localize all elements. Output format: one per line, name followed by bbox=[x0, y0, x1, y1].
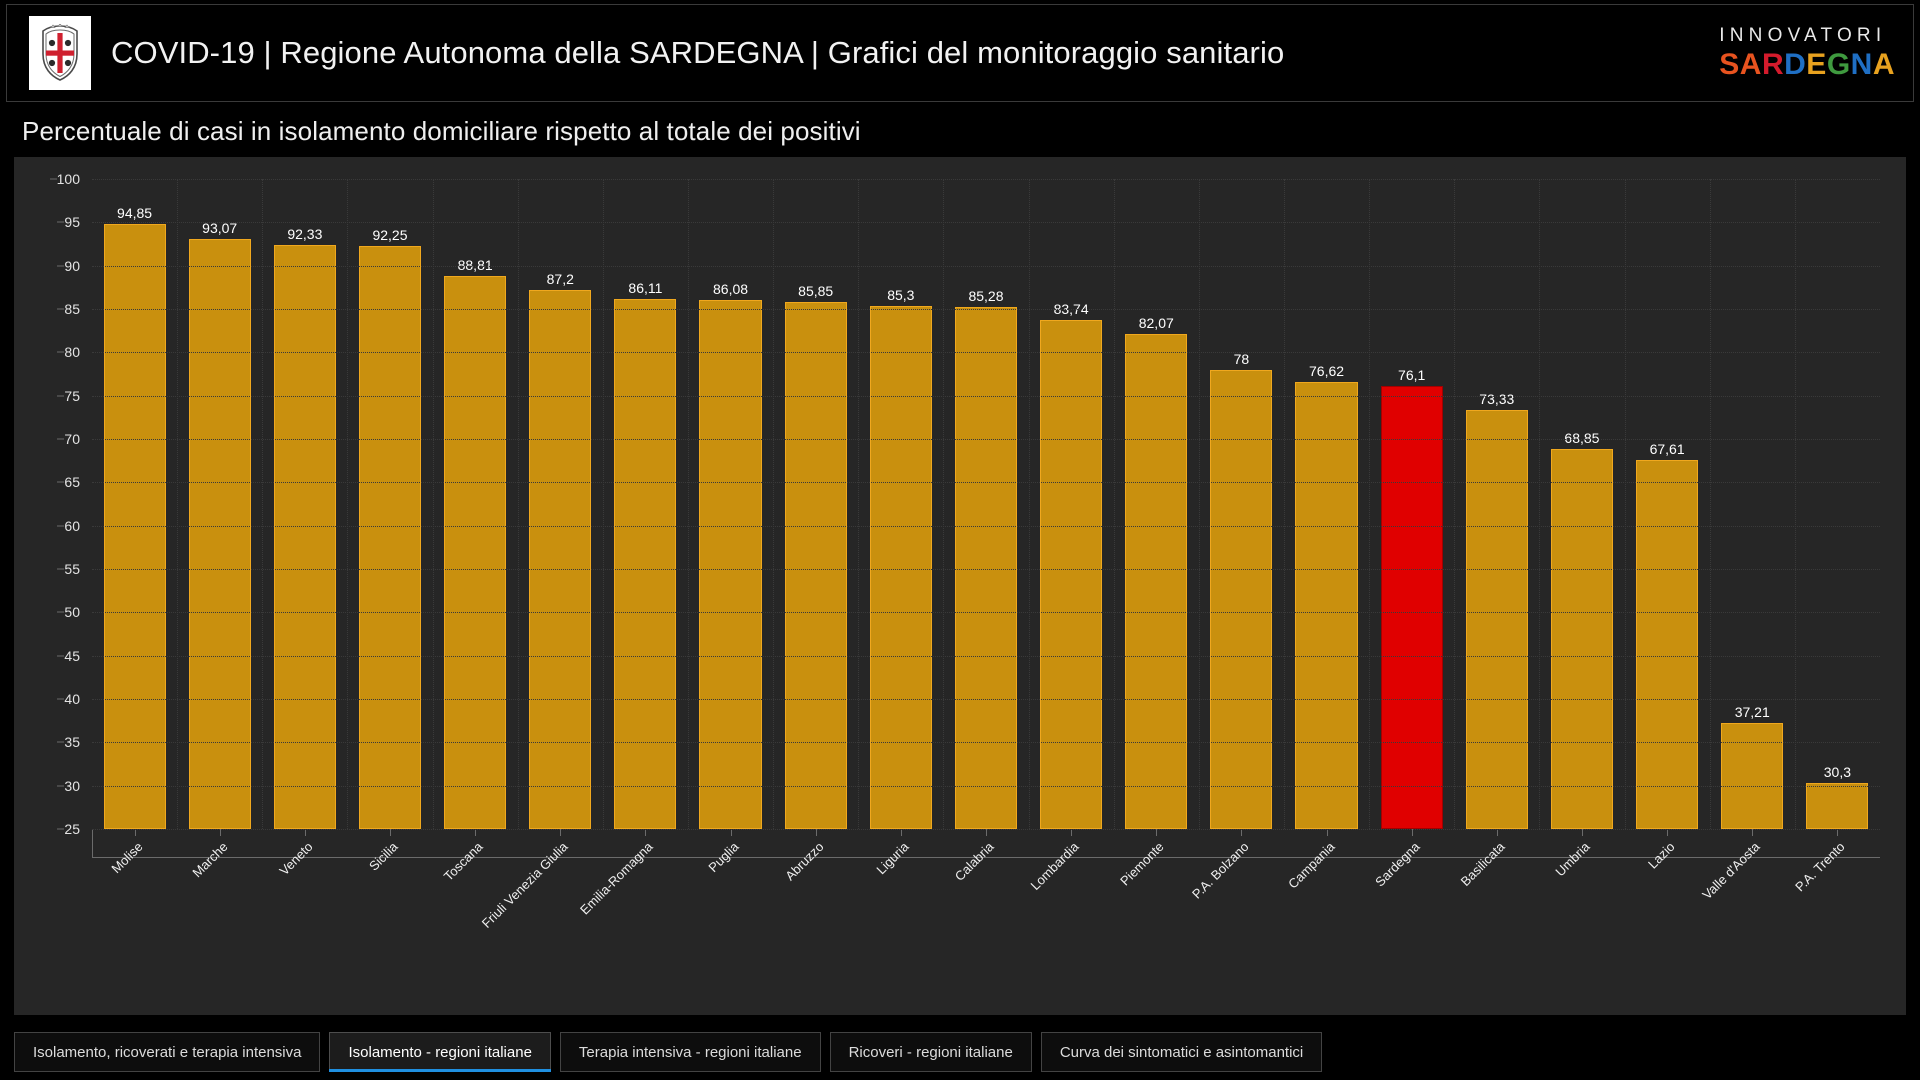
bar-value-label: 68,85 bbox=[1564, 430, 1599, 446]
y-axis-tick-mark bbox=[57, 829, 64, 830]
brand-letter-4: E bbox=[1806, 50, 1827, 80]
gridline-horizontal bbox=[92, 482, 1880, 483]
y-axis-tick-mark bbox=[57, 309, 64, 310]
x-axis-tick-label: Piemonte bbox=[1117, 839, 1166, 888]
bar-slot[interactable]: 87,2Friuli Venezia Giulia bbox=[518, 179, 603, 829]
bar-value-label: 85,85 bbox=[798, 283, 833, 299]
y-axis-tick-label: 100 bbox=[57, 171, 92, 187]
bar-value-label: 37,21 bbox=[1735, 704, 1770, 720]
x-axis-tick-mark bbox=[1497, 829, 1498, 836]
y-axis-tick-mark bbox=[57, 569, 64, 570]
y-axis-tick-mark bbox=[57, 699, 64, 700]
x-axis-tick-mark bbox=[305, 829, 306, 836]
x-axis-tick-label: Calabria bbox=[952, 839, 997, 884]
y-axis-tick-mark bbox=[57, 352, 64, 353]
x-axis-tick-label: Liguria bbox=[873, 839, 911, 877]
bar-toscana[interactable]: 88,81 bbox=[444, 276, 506, 829]
bar-basilicata[interactable]: 73,33 bbox=[1466, 410, 1528, 829]
bar-slot[interactable]: 94,85Molise bbox=[92, 179, 177, 829]
x-axis-tick-mark bbox=[1071, 829, 1072, 836]
app-header: COVID-19 | Regione Autonoma della SARDEG… bbox=[6, 4, 1914, 102]
y-axis-tick-mark bbox=[57, 525, 64, 526]
dashboard-page: COVID-19 | Regione Autonoma della SARDEG… bbox=[0, 0, 1920, 1080]
x-axis-tick-label: Lazio bbox=[1645, 839, 1678, 872]
bar-emilia-romagna[interactable]: 86,11 bbox=[614, 299, 676, 829]
x-axis-tick-mark bbox=[1241, 829, 1242, 836]
x-axis-tick-mark bbox=[390, 829, 391, 836]
x-axis-tick-label: P.A. Trento bbox=[1793, 839, 1848, 894]
y-axis-tick-mark bbox=[57, 439, 64, 440]
bar-value-label: 85,28 bbox=[968, 288, 1003, 304]
x-axis-tick-mark bbox=[1667, 829, 1668, 836]
y-axis-tick-label: 75 bbox=[64, 388, 92, 404]
tab-isolamento-regioni-italiane[interactable]: Isolamento - regioni italiane bbox=[329, 1032, 550, 1072]
bar-value-label: 73,33 bbox=[1479, 391, 1514, 407]
bar-value-label: 85,3 bbox=[887, 287, 914, 303]
bar-slot[interactable]: 85,85Abruzzo bbox=[773, 179, 858, 829]
y-axis-tick-mark bbox=[57, 742, 64, 743]
x-axis-tick-label: Veneto bbox=[276, 839, 315, 878]
bar-value-label: 92,25 bbox=[372, 227, 407, 243]
tab-isolamento-ricoverati-e-terapia-intensiva[interactable]: Isolamento, ricoverati e terapia intensi… bbox=[14, 1032, 320, 1072]
y-axis-tick-label: 30 bbox=[64, 778, 92, 794]
bar-marche[interactable]: 93,07 bbox=[189, 239, 251, 829]
x-axis-tick-mark bbox=[1582, 829, 1583, 836]
brand-letter-3: D bbox=[1784, 50, 1806, 80]
bar-abruzzo[interactable]: 85,85 bbox=[785, 302, 847, 829]
bar-slot[interactable]: 85,28Calabria bbox=[943, 179, 1028, 829]
tab-curva-dei-sintomatici-e-asintomantici[interactable]: Curva dei sintomatici e asintomantici bbox=[1041, 1032, 1322, 1072]
gridline-horizontal bbox=[92, 829, 1880, 830]
bar-slot[interactable]: 86,11Emilia-Romagna bbox=[603, 179, 688, 829]
bar-slot[interactable]: 78P.A. Bolzano bbox=[1199, 179, 1284, 829]
x-axis-tick-label: Marche bbox=[189, 839, 230, 880]
bar-p-a-trento[interactable]: 30,3 bbox=[1806, 783, 1868, 829]
bar-value-label: 76,1 bbox=[1398, 367, 1425, 383]
x-axis-tick-mark bbox=[1327, 829, 1328, 836]
x-axis-tick-mark bbox=[1412, 829, 1413, 836]
x-axis-tick-label: Sardegna bbox=[1372, 839, 1422, 889]
x-axis-tick-mark bbox=[475, 829, 476, 836]
gridline-horizontal bbox=[92, 179, 1880, 180]
bar-campania[interactable]: 76,62 bbox=[1295, 382, 1357, 829]
y-axis-tick-label: 65 bbox=[64, 474, 92, 490]
y-axis-tick-label: 45 bbox=[64, 648, 92, 664]
bar-slot[interactable]: 68,85Umbria bbox=[1539, 179, 1624, 829]
y-axis-tick-mark bbox=[57, 482, 64, 483]
bar-series: 94,85Molise93,07Marche92,33Veneto92,25Si… bbox=[92, 179, 1880, 829]
x-axis-tick-mark bbox=[560, 829, 561, 836]
x-axis-tick-label: Friuli Venezia Giulia bbox=[479, 839, 571, 931]
bar-valle-d-aosta[interactable]: 37,21 bbox=[1721, 723, 1783, 829]
y-axis-tick-mark bbox=[57, 655, 64, 656]
chart-subtitle: Percentuale di casi in isolamento domici… bbox=[6, 102, 1914, 157]
bar-slot[interactable]: 85,3Liguria bbox=[858, 179, 943, 829]
y-axis-tick-label: 40 bbox=[64, 691, 92, 707]
x-axis-tick-mark bbox=[1837, 829, 1838, 836]
innovatori-sardegna-logo: INNOVATORI SARDEGNA bbox=[1719, 26, 1895, 80]
page-title: COVID-19 | Regione Autonoma della SARDEG… bbox=[111, 35, 1284, 71]
brand-top-text: INNOVATORI bbox=[1719, 26, 1895, 45]
brand-letter-1: A bbox=[1740, 50, 1762, 80]
x-axis-tick-mark bbox=[986, 829, 987, 836]
tab-terapia-intensiva-regioni-italiane[interactable]: Terapia intensiva - regioni italiane bbox=[560, 1032, 821, 1072]
y-axis-tick-label: 25 bbox=[64, 821, 92, 837]
x-axis-tick-label: Valle d'Aosta bbox=[1700, 839, 1763, 902]
gridline-horizontal bbox=[92, 612, 1880, 613]
bar-slot[interactable]: 73,33Basilicata bbox=[1454, 179, 1539, 829]
chart-container: 94,85Molise93,07Marche92,33Veneto92,25Si… bbox=[14, 157, 1906, 1015]
bar-value-label: 92,33 bbox=[287, 226, 322, 242]
bar-puglia[interactable]: 86,08 bbox=[699, 300, 761, 829]
brand-letter-5: G bbox=[1827, 50, 1851, 80]
bar-slot[interactable]: 30,3P.A. Trento bbox=[1795, 179, 1880, 829]
x-axis-tick-label: Basilicata bbox=[1457, 839, 1507, 889]
x-axis-tick-mark bbox=[731, 829, 732, 836]
x-axis-tick-label: Campania bbox=[1285, 839, 1338, 892]
y-axis-tick-mark bbox=[50, 179, 57, 180]
bar-slot[interactable]: 93,07Marche bbox=[177, 179, 262, 829]
bar-umbria[interactable]: 68,85 bbox=[1551, 449, 1613, 829]
y-axis-tick-mark bbox=[57, 612, 64, 613]
gridline-horizontal bbox=[92, 266, 1880, 267]
brand-letter-6: N bbox=[1851, 50, 1873, 80]
x-axis-tick-label: Umbria bbox=[1552, 839, 1592, 879]
bar-value-label: 86,08 bbox=[713, 281, 748, 297]
x-axis-tick-mark bbox=[645, 829, 646, 836]
x-axis-tick-mark bbox=[135, 829, 136, 836]
x-axis-tick-label: Toscana bbox=[441, 839, 486, 884]
bar-liguria[interactable]: 85,3 bbox=[870, 306, 932, 829]
gridline-horizontal bbox=[92, 569, 1880, 570]
brand-letter-2: R bbox=[1762, 50, 1784, 80]
y-axis-tick-label: 50 bbox=[64, 604, 92, 620]
sardinia-coat-of-arms-icon bbox=[29, 16, 91, 90]
bar-slot[interactable]: 92,25Sicilia bbox=[347, 179, 432, 829]
y-axis-tick-mark bbox=[57, 785, 64, 786]
y-axis-tick-label: 60 bbox=[64, 518, 92, 534]
tab-ricoveri-regioni-italiane[interactable]: Ricoveri - regioni italiane bbox=[830, 1032, 1032, 1072]
x-axis-tick-mark bbox=[901, 829, 902, 836]
y-axis-tick-label: 95 bbox=[64, 214, 92, 230]
gridline-horizontal bbox=[92, 439, 1880, 440]
bar-value-label: 86,11 bbox=[628, 280, 662, 296]
bar-calabria[interactable]: 85,28 bbox=[955, 307, 1017, 829]
bar-value-label: 76,62 bbox=[1309, 363, 1344, 379]
bar-value-label: 30,3 bbox=[1824, 764, 1851, 780]
y-axis-tick-mark bbox=[57, 395, 64, 396]
bar-lazio[interactable]: 67,61 bbox=[1636, 460, 1698, 829]
bar-piemonte[interactable]: 82,07 bbox=[1125, 334, 1187, 829]
gridline-horizontal bbox=[92, 222, 1880, 223]
bar-slot[interactable]: 92,33Veneto bbox=[262, 179, 347, 829]
gridline-horizontal bbox=[92, 309, 1880, 310]
x-axis-tick-mark bbox=[1156, 829, 1157, 836]
y-axis-tick-mark bbox=[57, 222, 64, 223]
bar-slot[interactable]: 82,07Piemonte bbox=[1114, 179, 1199, 829]
x-axis-tick-mark bbox=[816, 829, 817, 836]
gridline-horizontal bbox=[92, 786, 1880, 787]
bar-value-label: 82,07 bbox=[1139, 315, 1174, 331]
gridline-horizontal bbox=[92, 699, 1880, 700]
bar-sardegna[interactable]: 76,1 bbox=[1381, 386, 1443, 829]
bar-value-label: 94,85 bbox=[117, 205, 152, 221]
y-axis-tick-label: 80 bbox=[64, 344, 92, 360]
bar-slot[interactable]: 83,74Lombardia bbox=[1029, 179, 1114, 829]
bar-value-label: 67,61 bbox=[1650, 441, 1685, 457]
bar-slot[interactable]: 37,21Valle d'Aosta bbox=[1710, 179, 1795, 829]
x-axis-tick-label: Abruzzo bbox=[782, 839, 826, 883]
x-axis-tick-label: Emilia-Romagna bbox=[577, 839, 656, 918]
y-axis-tick-label: 90 bbox=[64, 258, 92, 274]
y-axis-tick-label: 85 bbox=[64, 301, 92, 317]
brand-bottom-text: SARDEGNA bbox=[1719, 50, 1895, 80]
x-axis-tick-label: Lombardia bbox=[1028, 839, 1082, 893]
gridline-horizontal bbox=[92, 742, 1880, 743]
gridline-horizontal bbox=[92, 352, 1880, 353]
brand-letter-7: A bbox=[1873, 50, 1895, 80]
gridline-horizontal bbox=[92, 526, 1880, 527]
x-axis-tick-label: P.A. Bolzano bbox=[1189, 839, 1252, 902]
gridline-horizontal bbox=[92, 656, 1880, 657]
y-axis-tick-label: 35 bbox=[64, 734, 92, 750]
y-axis-tick-label: 55 bbox=[64, 561, 92, 577]
plot-area: 94,85Molise93,07Marche92,33Veneto92,25Si… bbox=[92, 179, 1880, 829]
x-axis-tick-mark bbox=[1752, 829, 1753, 836]
gridline-horizontal bbox=[92, 396, 1880, 397]
bar-slot[interactable]: 76,62Campania bbox=[1284, 179, 1369, 829]
x-axis-tick-mark bbox=[220, 829, 221, 836]
brand-letter-0: S bbox=[1719, 50, 1740, 80]
bar-slot[interactable]: 88,81Toscana bbox=[433, 179, 518, 829]
y-axis-tick-label: 70 bbox=[64, 431, 92, 447]
bar-slot[interactable]: 76,1Sardegna bbox=[1369, 179, 1454, 829]
y-axis-tick-mark bbox=[57, 265, 64, 266]
bar-friuli-venezia-giulia[interactable]: 87,2 bbox=[529, 290, 591, 829]
bar-slot[interactable]: 67,61Lazio bbox=[1625, 179, 1710, 829]
bar-slot[interactable]: 86,08Puglia bbox=[688, 179, 773, 829]
bar-value-label: 87,2 bbox=[547, 271, 574, 287]
tab-bar[interactable]: Isolamento, ricoverati e terapia intensi… bbox=[14, 1032, 1906, 1072]
